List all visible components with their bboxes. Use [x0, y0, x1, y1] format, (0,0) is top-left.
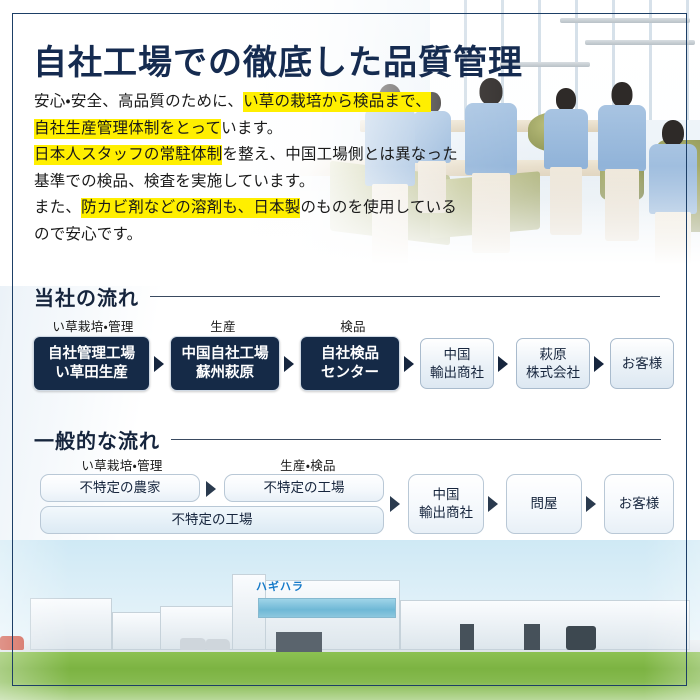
step-line: センター — [321, 364, 379, 383]
general-flow-step-3: お客様 — [604, 474, 674, 534]
our-flow-step-5: 萩原 株式会社 — [516, 338, 590, 389]
our-flow-step-2: 中国自社工場 蘇州萩原 — [170, 336, 280, 391]
general-flow-column-label-1: い草栽培・管理 — [52, 455, 192, 474]
general-flow-heading-text: 一般的な流れ — [34, 425, 160, 454]
our-flow-step-6: お客様 — [610, 338, 674, 389]
step-line: 中国自社工場 — [182, 345, 269, 364]
hagihara-building-photo: ハギハラ — [0, 540, 700, 700]
intro-line-4: 基準での検品、検査を実施しています。 — [34, 169, 458, 196]
intro-line-3: 日本人スタッフの常駐体制を整え、中国工場側とは異なった — [34, 142, 458, 169]
general-flow-top-step-2: 不特定の工場 — [224, 474, 384, 502]
our-flow-column-label-1: い草栽培・管理 — [33, 316, 153, 335]
intro-highlight: 日本製 — [253, 198, 300, 218]
step-line: 不特定の工場 — [264, 479, 345, 497]
step-line: 自社管理工場 — [48, 345, 135, 364]
general-flow-heading: 一般的な流れ — [34, 425, 674, 454]
page-title: 自社工場での徹底した品質管理 — [33, 35, 523, 84]
step-line: 輸出商社 — [419, 504, 473, 522]
intro-highlight: 日本人スタッフの常駐体制 — [34, 145, 222, 165]
infographic-page: ハギハラ 自社工場での徹底した品質管理 安心・安全、高品質のために、い草の栽培か… — [0, 0, 700, 700]
photo-edge-fade — [0, 540, 700, 700]
step-line: 中国 — [444, 346, 471, 364]
general-flow-step-2: 問屋 — [506, 474, 582, 534]
intro-text: また、 — [34, 199, 81, 216]
general-flow-arrow-1 — [206, 481, 216, 497]
intro-highlight: 自社生産管理体制をとって — [34, 119, 221, 139]
step-line: 中国 — [433, 486, 460, 504]
step-line: お客様 — [619, 495, 660, 513]
our-flow-step-3: 自社検品 センター — [300, 336, 400, 391]
general-flow-arrow-2 — [390, 496, 400, 512]
our-flow-heading: 当社の流れ — [34, 282, 674, 311]
intro-paragraph: 安心・安全、高品質のために、い草の栽培から検品まで、 自社生産管理体制をとってい… — [34, 89, 458, 248]
our-flow-arrow-4 — [498, 356, 508, 372]
our-flow-step-1: 自社管理工場 い草田生産 — [33, 336, 150, 391]
step-line: い草田生産 — [55, 364, 128, 383]
intro-highlight: 防カビ剤などの溶剤も、 — [81, 198, 253, 218]
step-line: 不特定の工場 — [172, 511, 253, 529]
general-flow-arrow-4 — [586, 496, 596, 512]
intro-line-1: 安心・安全、高品質のために、い草の栽培から検品まで、 — [34, 89, 458, 116]
intro-line-2: 自社生産管理体制をとっています。 — [34, 116, 458, 143]
intro-text: ので安心です。 — [34, 226, 142, 243]
our-flow-arrow-1 — [154, 356, 164, 372]
intro-text: います。 — [221, 120, 282, 137]
our-flow-step-4: 中国 輸出商社 — [420, 338, 494, 389]
intro-text: 基準での検品、検査を実施しています。 — [34, 173, 315, 190]
step-line: 不特定の農家 — [80, 479, 161, 497]
intro-text: を整え、中国工場側とは異なった — [222, 146, 458, 163]
general-flow-step-1: 中国 輸出商社 — [408, 474, 484, 534]
intro-line-5: また、防カビ剤などの溶剤も、日本製のものを使用している — [34, 195, 458, 222]
heading-rule — [150, 296, 660, 298]
step-line: 蘇州萩原 — [196, 364, 254, 383]
general-flow-column-label-2: 生産・検品 — [238, 455, 378, 474]
our-flow-arrow-2 — [284, 356, 294, 372]
intro-text: 安心・安全、高品質のために、 — [34, 93, 243, 110]
step-line: 株式会社 — [526, 364, 580, 382]
our-flow-column-label-2: 生産 — [163, 316, 283, 335]
our-flow-arrow-3 — [404, 356, 414, 372]
intro-text: のものを使用している — [300, 199, 457, 216]
our-flow-column-label-3: 検品 — [293, 316, 413, 335]
our-flow-heading-text: 当社の流れ — [34, 282, 139, 311]
our-flow-arrow-5 — [594, 356, 604, 372]
step-line: お客様 — [622, 355, 663, 373]
intro-highlight: い草の栽培から検品まで、 — [243, 92, 431, 112]
step-line: 萩原 — [540, 346, 567, 364]
general-flow-arrow-3 — [488, 496, 498, 512]
heading-rule — [171, 439, 661, 441]
intro-line-6: ので安心です。 — [34, 222, 458, 249]
step-line: 自社検品 — [321, 345, 379, 364]
general-flow-top-step-1: 不特定の農家 — [40, 474, 200, 502]
step-line: 問屋 — [531, 495, 558, 513]
step-line: 輸出商社 — [430, 364, 484, 382]
general-flow-wide-step: 不特定の工場 — [40, 506, 384, 534]
